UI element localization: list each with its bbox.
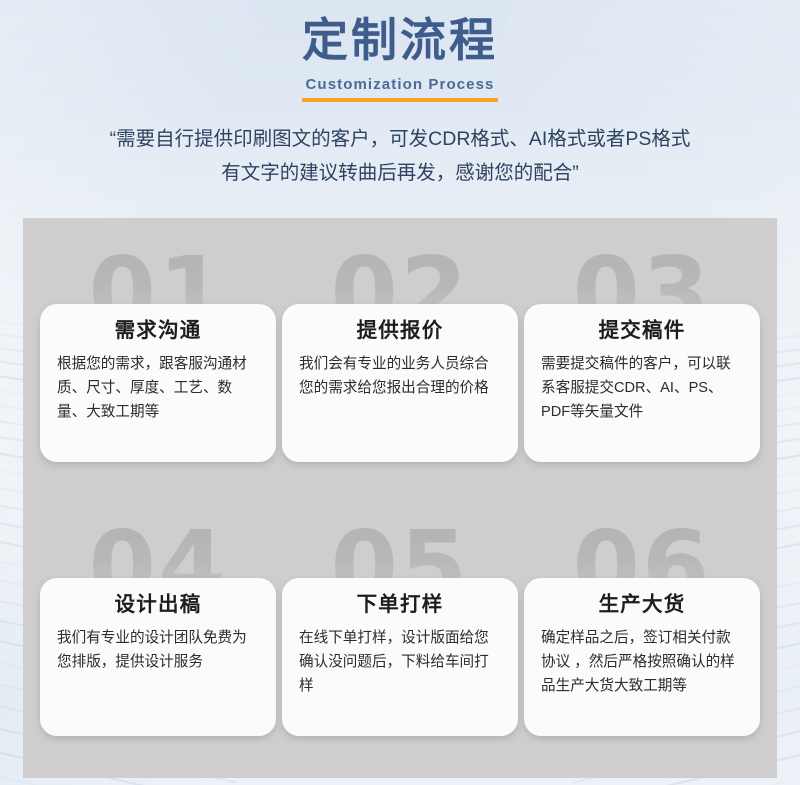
step-card[interactable]: 生产大货 确定样品之后，签订相关付款协议 ，然后严格按照确认的样品生产大货大致工…: [524, 578, 760, 736]
step-card-description: 我们有专业的设计团队免费为您排版，提供设计服务: [57, 626, 259, 674]
step-card[interactable]: 提交稿件 需要提交稿件的客户，可以联系客服提交CDR、AI、PS、PDF等矢量文…: [524, 304, 760, 462]
step-card-title: 设计出稿: [57, 592, 259, 619]
step-card-description: 确定样品之后，签订相关付款协议 ，然后严格按照确认的样品生产大货大致工期等: [541, 626, 743, 699]
step-card-title: 下单打样: [299, 592, 501, 619]
step-card-title: 提交稿件: [541, 318, 743, 345]
step-card[interactable]: 需求沟通 根据您的需求，跟客服沟通材质、尺寸、厚度、工艺、数量、大致工期等: [40, 304, 276, 462]
step-card-description: 需要提交稿件的客户，可以联系客服提交CDR、AI、PS、PDF等矢量文件: [541, 352, 743, 425]
step-item-05[interactable]: 05 下单打样 在线下单打样，设计版面给您确认没问题后，下料给车间打样: [282, 496, 518, 764]
intro-quote-line-2: 有文字的建议转曲后再发，感谢您的配合”: [55, 156, 745, 190]
step-item-02[interactable]: 02 提供报价 我们会有专业的业务人员综合您的需求给您报出合理的价格: [282, 222, 518, 490]
accent-underline: [302, 98, 498, 102]
step-card-title: 生产大货: [541, 592, 743, 619]
page-header: 定制流程 Customization Process “需要自行提供印刷图文的客…: [0, 0, 800, 190]
step-item-04[interactable]: 04 设计出稿 我们有专业的设计团队免费为您排版，提供设计服务: [40, 496, 276, 764]
intro-quote: “需要自行提供印刷图文的客户，可发CDR格式、AI格式或者PS格式 有文字的建议…: [55, 122, 745, 190]
step-item-03[interactable]: 03 提交稿件 需要提交稿件的客户，可以联系客服提交CDR、AI、PS、PDF等…: [524, 222, 760, 490]
steps-panel: 01 需求沟通 根据您的需求，跟客服沟通材质、尺寸、厚度、工艺、数量、大致工期等…: [23, 218, 777, 778]
page-subtitle-group: Customization Process: [306, 76, 495, 102]
step-card[interactable]: 提供报价 我们会有专业的业务人员综合您的需求给您报出合理的价格: [282, 304, 518, 462]
steps-row-bottom: 04 设计出稿 我们有专业的设计团队免费为您排版，提供设计服务 05 下单打样 …: [23, 496, 777, 766]
page-title: 定制流程: [0, 12, 800, 70]
step-card[interactable]: 下单打样 在线下单打样，设计版面给您确认没问题后，下料给车间打样: [282, 578, 518, 736]
step-card-description: 根据您的需求，跟客服沟通材质、尺寸、厚度、工艺、数量、大致工期等: [57, 352, 259, 425]
intro-quote-line-1: “需要自行提供印刷图文的客户，可发CDR格式、AI格式或者PS格式: [55, 122, 745, 156]
page-subtitle: Customization Process: [306, 76, 495, 93]
customization-process-page: 定制流程 Customization Process “需要自行提供印刷图文的客…: [0, 0, 800, 785]
step-item-06[interactable]: 06 生产大货 确定样品之后，签订相关付款协议 ，然后严格按照确认的样品生产大货…: [524, 496, 760, 764]
step-card-title: 提供报价: [299, 318, 501, 345]
step-item-01[interactable]: 01 需求沟通 根据您的需求，跟客服沟通材质、尺寸、厚度、工艺、数量、大致工期等: [40, 222, 276, 490]
step-card-description: 在线下单打样，设计版面给您确认没问题后，下料给车间打样: [299, 626, 501, 699]
steps-row-top: 01 需求沟通 根据您的需求，跟客服沟通材质、尺寸、厚度、工艺、数量、大致工期等…: [23, 222, 777, 492]
step-card[interactable]: 设计出稿 我们有专业的设计团队免费为您排版，提供设计服务: [40, 578, 276, 736]
step-card-title: 需求沟通: [57, 318, 259, 345]
step-card-description: 我们会有专业的业务人员综合您的需求给您报出合理的价格: [299, 352, 501, 400]
